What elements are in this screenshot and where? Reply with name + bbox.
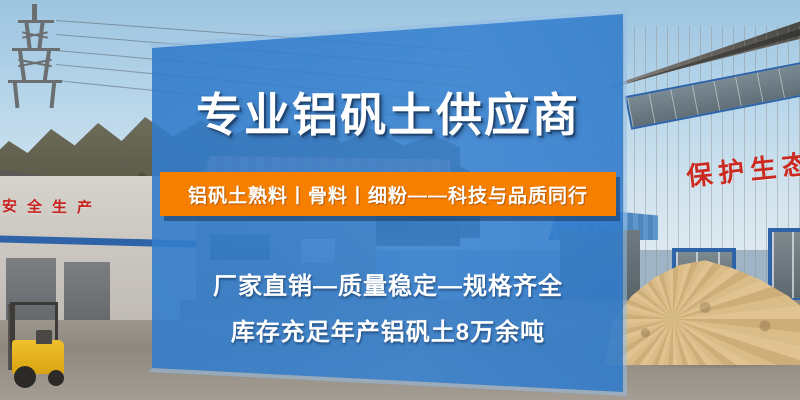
forklift-seat [36, 330, 52, 344]
forklift [6, 300, 72, 392]
banner-advertisement: 安全生产 保护生态 [0, 0, 800, 400]
tagline-text: 铝矾土熟料丨骨料丨细粉——科技与品质同行 [188, 181, 588, 208]
subline-1: 厂家直销—质量稳定—规格齐全 [152, 266, 624, 301]
forklift-wheel [14, 366, 36, 388]
page-title: 专业铝矾土供应商 [152, 90, 624, 141]
tagline-banner: 铝矾土熟料丨骨料丨细粉——科技与品质同行 [160, 172, 616, 216]
left-building-sign: 安全生产 [2, 195, 102, 218]
subline-2: 库存充足年产铝矾土8万余吨 [152, 312, 624, 347]
forklift-wheel [48, 370, 64, 386]
ad-content: 专业铝矾土供应商 铝矾土熟料丨骨料丨细粉——科技与品质同行 厂家直销—质量稳定—… [152, 18, 624, 390]
